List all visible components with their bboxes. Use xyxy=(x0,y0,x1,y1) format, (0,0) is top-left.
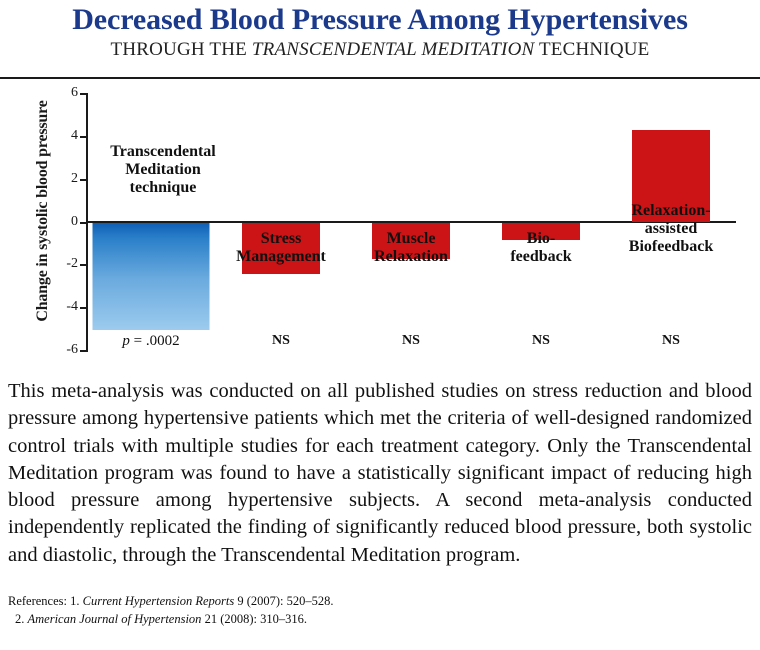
category-label-line: Biofeedback xyxy=(606,238,736,256)
reference-2-journal: American Journal of Hypertension xyxy=(28,612,202,626)
y-tick-label: 6 xyxy=(34,85,78,101)
reference-item-1: References: 1. Current Hypertension Repo… xyxy=(8,592,752,610)
reference-1-journal: Current Hypertension Reports xyxy=(83,594,235,608)
category-label-line: Management xyxy=(216,248,346,266)
chart-header: Decreased Blood Pressure Among Hypertens… xyxy=(0,0,760,61)
category-label-line: Stress xyxy=(216,230,346,248)
references-label: References: 1. xyxy=(8,594,83,608)
bar-slot xyxy=(216,94,346,351)
y-tick-label: 0 xyxy=(34,214,78,230)
y-tick-label: 4 xyxy=(34,128,78,144)
y-tick-label: -4 xyxy=(34,299,78,315)
reference-item-2: 2. American Journal of Hypertension 21 (… xyxy=(8,610,752,628)
tm-annotation-line: Meditation xyxy=(90,161,236,179)
reference-1-detail: 9 (2007): 520–528. xyxy=(234,594,333,608)
subtitle-italic: TRANSCENDENTAL MEDITATION xyxy=(252,39,534,60)
significance-label-2: NS xyxy=(216,333,346,349)
significance-label-1: p = .0002 xyxy=(86,333,216,350)
bar-chart: Change in systolic blood pressure 6420-2… xyxy=(0,80,760,375)
subtitle-suffix: TECHNIQUE xyxy=(534,39,649,60)
significance-label-5: NS xyxy=(606,333,736,349)
y-tick-label: 2 xyxy=(34,171,78,187)
category-label-line: Muscle xyxy=(346,230,476,248)
p-symbol: p xyxy=(122,333,130,349)
category-label-line: assisted xyxy=(606,220,736,238)
bar-slot xyxy=(86,94,216,351)
category-label-line: Relaxation xyxy=(346,248,476,266)
y-tick-label: -6 xyxy=(34,342,78,358)
category-label-4: Bio-feedback xyxy=(476,230,606,266)
y-tick-label: -2 xyxy=(34,256,78,272)
bar-slot xyxy=(346,94,476,351)
header-divider xyxy=(0,77,760,79)
references: References: 1. Current Hypertension Repo… xyxy=(8,592,752,628)
chart-subtitle: THROUGH THE TRANSCENDENTAL MEDITATION TE… xyxy=(0,40,760,61)
bar-slot xyxy=(476,94,606,351)
reference-2-detail: 21 (2008): 310–316. xyxy=(201,612,307,626)
tm-series-annotation: TranscendentalMeditationtechnique xyxy=(90,143,236,197)
subtitle-prefix: THROUGH THE xyxy=(111,39,252,60)
category-label-line: feedback xyxy=(476,248,606,266)
tm-annotation-line: Transcendental xyxy=(90,143,236,161)
significance-label-3: NS xyxy=(346,333,476,349)
significance-label-4: NS xyxy=(476,333,606,349)
body-paragraph: This meta-analysis was conducted on all … xyxy=(8,378,752,569)
reference-2-number: 2. xyxy=(15,612,28,626)
bar-1[interactable] xyxy=(93,223,210,330)
page-title: Decreased Blood Pressure Among Hypertens… xyxy=(0,4,760,36)
category-label-2: StressManagement xyxy=(216,230,346,266)
category-label-line: Relaxation- xyxy=(606,202,736,220)
tm-annotation-line: technique xyxy=(90,179,236,197)
category-label-3: MuscleRelaxation xyxy=(346,230,476,266)
category-label-5: Relaxation-assistedBiofeedback xyxy=(606,202,736,256)
category-label-line: Bio- xyxy=(476,230,606,248)
